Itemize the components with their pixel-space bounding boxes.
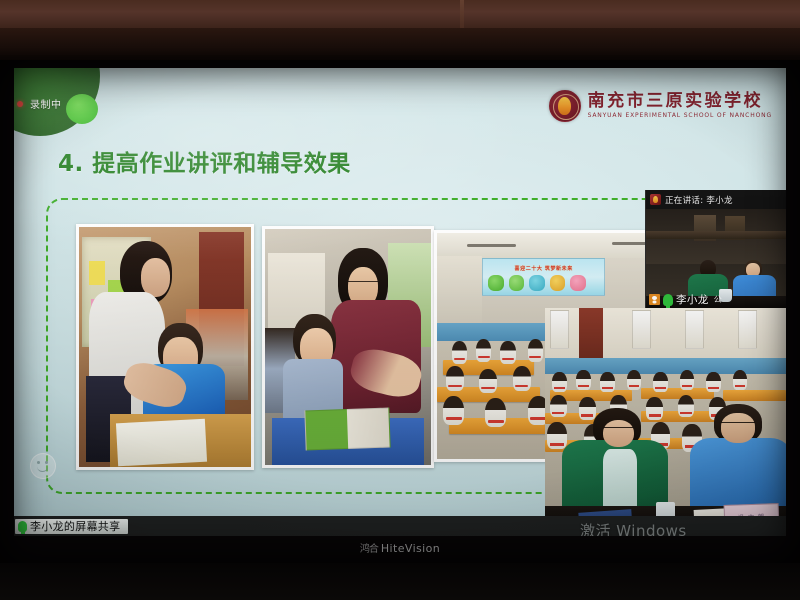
slide-photo-2 [262, 226, 434, 468]
microphone-icon[interactable] [663, 294, 673, 306]
room-wall-upper [0, 0, 800, 30]
school-crest-icon [549, 90, 581, 122]
participant-icon[interactable] [649, 294, 660, 305]
classroom-banner-text: 喜迎二十大 筑梦新未来 [483, 265, 604, 272]
participant-name-badge: 公 [714, 294, 722, 305]
school-logo: 南充市三原实验学校 SANYUAN EXPERIMENTAL SCHOOL OF… [549, 90, 772, 122]
participant-name: 李小龙 [676, 292, 709, 307]
screenshot-root: 录制中 南充市三原实验学校 SANYUAN EXPERIMENTAL SCHOO… [0, 0, 800, 600]
main-video-overlay[interactable]: 冯 中 朗 [545, 308, 786, 536]
presentation-slide: 录制中 南充市三原实验学校 SANYUAN EXPERIMENTAL SCHOO… [14, 68, 786, 516]
decoration-circle-small [66, 94, 98, 124]
recording-indicator-label: 录制中 [30, 96, 62, 111]
screen-share-chip[interactable]: 李小龙的屏幕共享 [15, 519, 128, 534]
device-brand-mark: 鸿合 [360, 540, 378, 555]
device-brand-name: HiteVision [381, 542, 440, 555]
school-name-en: SANYUAN EXPERIMENTAL SCHOOL OF NANCHONG [588, 112, 772, 119]
display-screen: 录制中 南充市三原实验学校 SANYUAN EXPERIMENTAL SCHOO… [14, 68, 786, 536]
room-wall-seam [460, 0, 464, 30]
slide-photo-2-image [265, 229, 431, 465]
display-stand-shadow [0, 563, 800, 600]
speaker-tile-header: 正在讲话: 李小龙 [646, 190, 786, 209]
screen-share-label: 李小龙的屏幕共享 [30, 518, 120, 534]
device-brand: 鸿合HiteVision [0, 540, 800, 555]
school-logo-text: 南充市三原实验学校 SANYUAN EXPERIMENTAL SCHOOL OF… [588, 93, 772, 120]
app-logo-icon [650, 194, 661, 205]
classroom-banner: 喜迎二十大 筑梦新未来 [482, 258, 605, 296]
speaker-tile-name-bar: 李小龙 公 [646, 291, 786, 308]
school-name-cn: 南充市三原实验学校 [588, 93, 764, 111]
slide-photo-1-image [79, 227, 251, 467]
microphone-icon[interactable] [18, 521, 27, 532]
smiley-face-icon [30, 453, 56, 479]
slide-photo-1 [76, 224, 254, 470]
screen-share-status-bar: 李小龙的屏幕共享 [14, 516, 786, 536]
active-speaker-label: 正在讲话: 李小龙 [665, 194, 733, 206]
recording-indicator-dot [17, 101, 23, 107]
speaker-video-tile[interactable]: 正在讲话: 李小龙 李 [645, 190, 786, 308]
slide-title: 4. 提高作业讲评和辅导效果 [58, 144, 351, 178]
